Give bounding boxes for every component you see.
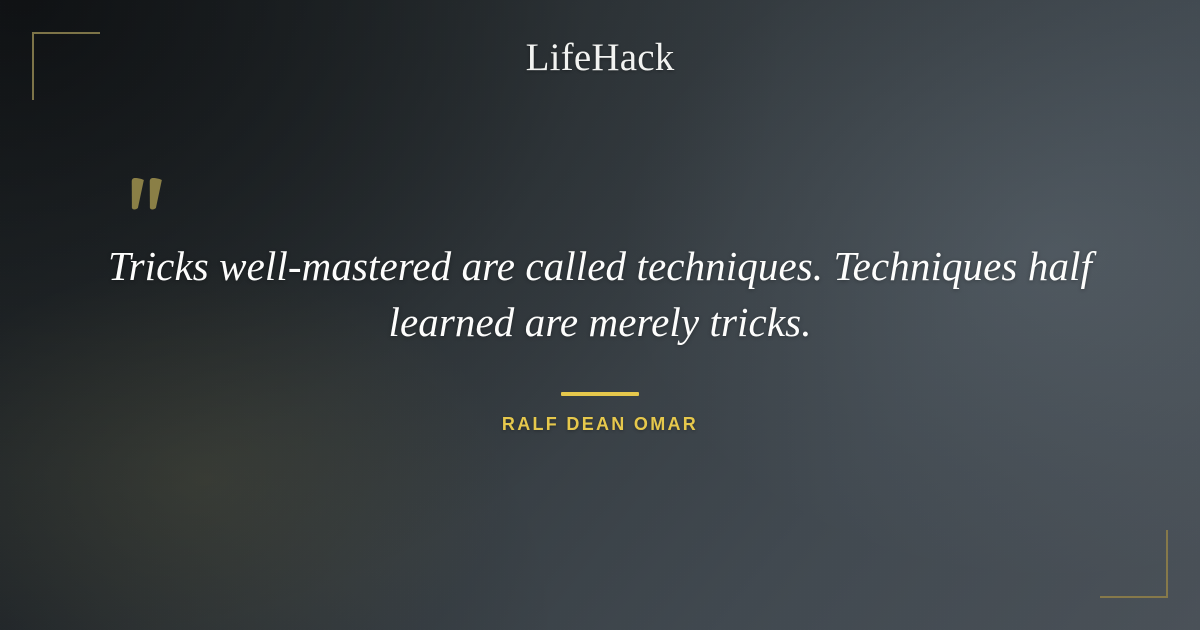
quote-block: Tricks well-mastered are called techniqu… [80, 238, 1120, 350]
quote-line-1: Tricks well-mastered are called techniqu… [108, 243, 1092, 289]
quote-text: Tricks well-mastered are called techniqu… [80, 238, 1120, 350]
divider-wrapper [0, 383, 1200, 401]
author-wrapper: RALF DEAN OMAR [0, 414, 1200, 435]
quote-mark-icon [128, 150, 188, 220]
corner-bracket-bottom-right-icon [1100, 530, 1168, 598]
quote-line-2: learned are merely tricks. [388, 299, 811, 345]
brand-logo: LifeHack [0, 37, 1200, 80]
author-name: RALF DEAN OMAR [502, 414, 698, 435]
quote-card: LifeHack Tricks well-mastered are called… [0, 0, 1200, 630]
brand-name: LifeHack [526, 37, 675, 80]
gold-divider [561, 392, 639, 396]
